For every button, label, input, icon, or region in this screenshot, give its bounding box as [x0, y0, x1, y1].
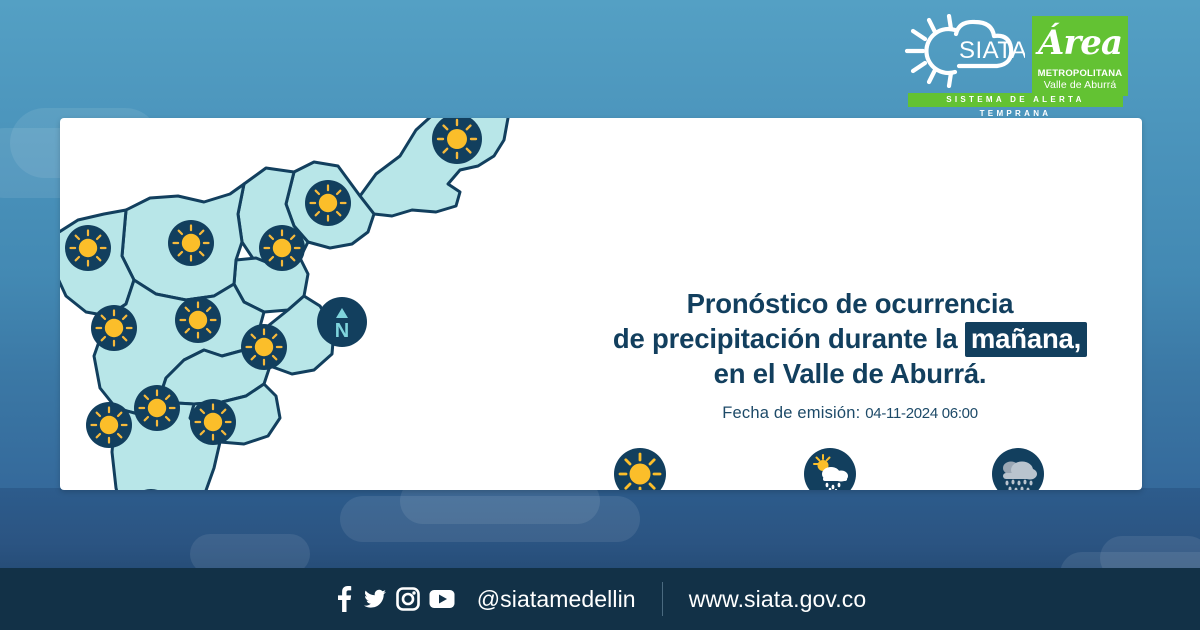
area-subtitle-line1: METROPOLITANA — [1032, 68, 1128, 79]
valle-de-aburra-map: N — [60, 118, 528, 490]
emission-value: 04-11-2024 06:00 — [865, 405, 978, 422]
area-subtitle-line2: Valle de Aburrá — [1032, 79, 1128, 91]
legend-item-media: Probabilidad Media — [740, 448, 920, 490]
page-title: Pronóstico de ocurrencia de precipitació… — [520, 286, 1142, 391]
social-handle[interactable]: @siatamedellin — [477, 586, 636, 613]
facebook-icon[interactable] — [334, 586, 354, 612]
map-marker-sun[interactable] — [259, 225, 305, 271]
map-marker-sun[interactable] — [190, 399, 236, 445]
map-marker-sun[interactable] — [86, 402, 132, 448]
sun-icon — [614, 448, 666, 490]
cloud-rain-icon — [992, 448, 1044, 490]
map-marker-sun[interactable] — [134, 385, 180, 431]
instagram-icon[interactable] — [396, 587, 420, 611]
siata-wordmark: SIATA — [959, 37, 1025, 64]
area-script-text: Área — [1032, 18, 1128, 70]
map-marker-sun[interactable] — [65, 225, 111, 271]
map-marker-sun[interactable] — [168, 220, 214, 266]
title-line-2: de precipitación durante la mañana, — [520, 321, 1142, 356]
tagline-banner: SISTEMA DE ALERTA TEMPRANA — [908, 93, 1123, 107]
content-card: N Pronóstico de ocurrencia de precipitac… — [60, 118, 1142, 490]
title-line-1: Pronóstico de ocurrencia — [520, 286, 1142, 321]
map-marker-sun[interactable] — [305, 180, 351, 226]
compass-label: N — [335, 320, 349, 342]
website-url[interactable]: www.siata.gov.co — [689, 586, 867, 613]
north-arrow-icon: N — [317, 297, 367, 347]
legend-item-baja: Probabilidad Baja — [550, 448, 730, 490]
legend-item-alta: Probabilidad Alta — [928, 448, 1108, 490]
map-marker-sun[interactable] — [432, 118, 482, 164]
emission-date: Fecha de emisión: 04-11-2024 06:00 — [520, 404, 1142, 423]
map-marker-sun[interactable] — [91, 305, 137, 351]
youtube-icon[interactable] — [429, 589, 455, 609]
footer-bar: @siatamedellin www.siata.gov.co — [0, 568, 1200, 630]
map-marker-sun[interactable] — [128, 489, 174, 490]
footer-divider — [662, 582, 663, 616]
twitter-icon[interactable] — [363, 586, 387, 612]
siata-logo-icon: SIATA — [893, 14, 1025, 88]
title-highlight-manana: mañana, — [965, 322, 1087, 357]
map-marker-sun[interactable] — [241, 324, 287, 370]
area-metropolitana-logo: Área METROPOLITANA Valle de Aburrá — [1032, 16, 1128, 96]
title-line-2-text: de precipitación durante la — [613, 323, 958, 354]
map-marker-sun[interactable] — [175, 297, 221, 343]
emission-label: Fecha de emisión: — [722, 404, 860, 422]
infographic-canvas: SIATA Área METROPOLITANA Valle de Aburrá… — [0, 0, 1200, 630]
probability-legend: Probabilidad Baja — [550, 448, 1142, 490]
sun-cloud-rain-icon — [804, 448, 856, 490]
title-line-3: en el Valle de Aburrá. — [520, 356, 1142, 391]
social-icons — [334, 586, 455, 612]
